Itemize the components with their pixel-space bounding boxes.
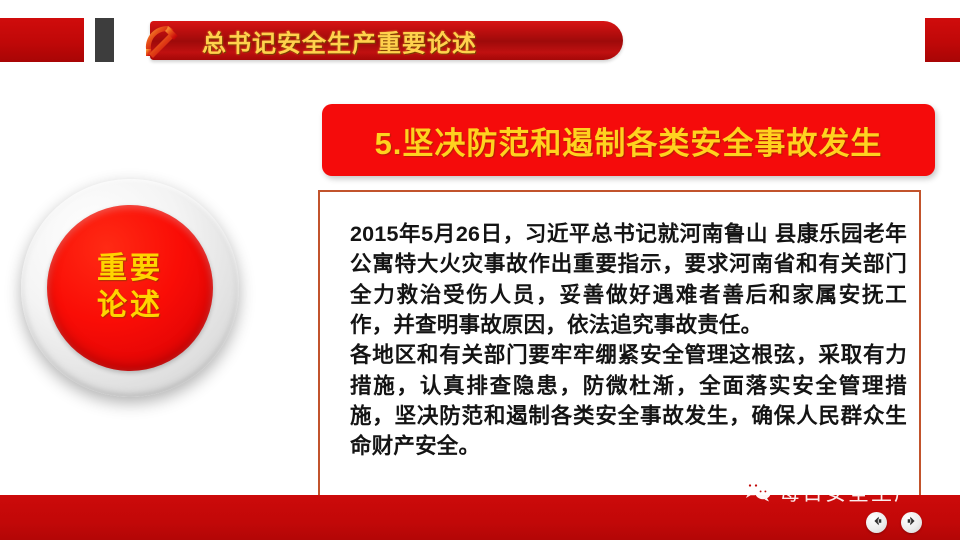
content-title-text: 5.坚决防范和遏制各类安全事故发生 <box>375 118 883 163</box>
next-slide-button[interactable] <box>901 512 922 533</box>
header-title-banner: 总书记安全生产重要论述 <box>150 21 623 60</box>
arrow-right-icon <box>906 514 918 532</box>
badge-inner-disc: 重要 论述 <box>47 205 213 371</box>
slide-header: 总书记安全生产重要论述 <box>0 0 960 70</box>
content-paragraph: 各地区和有关部门要牢牢绷紧安全管理这根弦，采取有力措施，认真排查隐患，防微杜渐，… <box>350 340 907 461</box>
content-title-bar: 5.坚决防范和遏制各类安全事故发生 <box>322 104 935 176</box>
wechat-watermark-label: 每日安全生产 <box>779 477 917 507</box>
header-red-block-left <box>0 18 84 62</box>
header-red-block-right <box>925 18 960 62</box>
badge-label-line2: 论述 <box>97 288 163 325</box>
wechat-watermark: 每日安全生产 <box>742 477 917 507</box>
important-discourse-badge: 重要 论述 <box>21 179 239 397</box>
previous-slide-button[interactable] <box>866 512 887 533</box>
arrow-left-icon <box>871 514 883 532</box>
header-gray-divider-bar <box>95 18 114 62</box>
content-paragraph: 2015年5月26日，习近平总书记就河南鲁山 县康乐园老年公寓特大火灾事故作出重… <box>350 219 907 340</box>
header-title-text: 总书记安全生产重要论述 <box>202 23 477 58</box>
content-body: 2015年5月26日，习近平总书记就河南鲁山 县康乐园老年公寓特大火灾事故作出重… <box>350 219 907 462</box>
slide-navigation <box>866 512 922 533</box>
badge-label-line1: 重要 <box>97 251 163 288</box>
slide-root: 总书记安全生产重要论述 <box>0 0 960 540</box>
wechat-logo-icon <box>742 478 772 507</box>
party-emblem-hammer-sickle-icon <box>138 18 184 64</box>
